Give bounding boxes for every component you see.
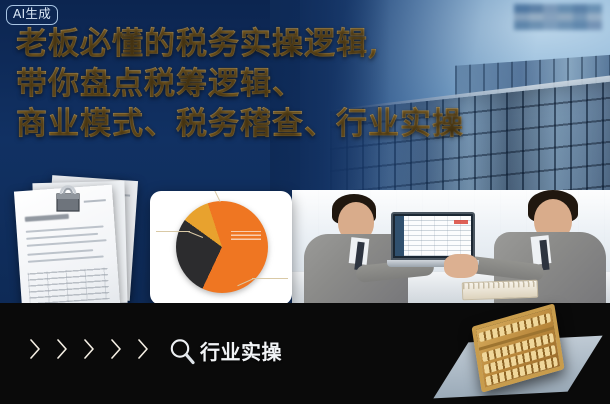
chevron-right-icon [84,339,95,359]
headline-line-3: 商业模式、税务稽查、行业实操 [16,104,576,144]
handshake-hands [444,254,478,278]
chevron-arrow-group [30,339,149,359]
chevron-right-icon [111,339,122,359]
document-text-line [27,249,93,255]
document-text-line [28,255,104,262]
bottom-bar: 行业实操 [0,303,610,404]
document-title-mark [25,214,69,222]
chevron-right-icon [30,339,41,359]
headline-line-2: 带你盘点税筹逻辑、 [16,64,576,104]
document-header-mark [84,199,106,203]
pie-leader-line-left [156,231,190,232]
headline-block: 老板必懂的税务实操逻辑, 带你盘点税筹逻辑、 商业模式、税务稽查、行业实操 [16,24,576,144]
abacus [465,313,585,393]
document-table [28,267,110,305]
pie-chart-card [150,191,292,305]
blurred-watermark [514,4,602,30]
document-text-line [26,225,104,232]
chevron-right-icon [138,339,149,359]
binder-clip-icon [52,180,84,214]
tax-documents-group [4,172,136,307]
headline-line-1: 老板必懂的税务实操逻辑, [16,24,576,64]
pie-leader-line-right [252,278,288,279]
ai-generated-badge: AI生成 [6,5,58,25]
search-tag[interactable]: 行业实操 [168,336,282,365]
laptop-spreadsheet [395,216,471,256]
document-text-line [26,233,98,240]
search-tag-label: 行业实操 [200,336,282,365]
notebook [462,280,539,301]
handshake-photo [292,190,610,305]
poster-canvas: AI生成 老板必懂的税务实操逻辑, 带你盘点税筹逻辑、 商业模式、税务稽查、行业… [0,0,610,404]
pie-slice-label [231,231,261,240]
laptop-screen [391,212,475,260]
search-icon[interactable] [168,337,196,365]
document-text-line [27,239,107,246]
chevron-right-icon [57,339,68,359]
